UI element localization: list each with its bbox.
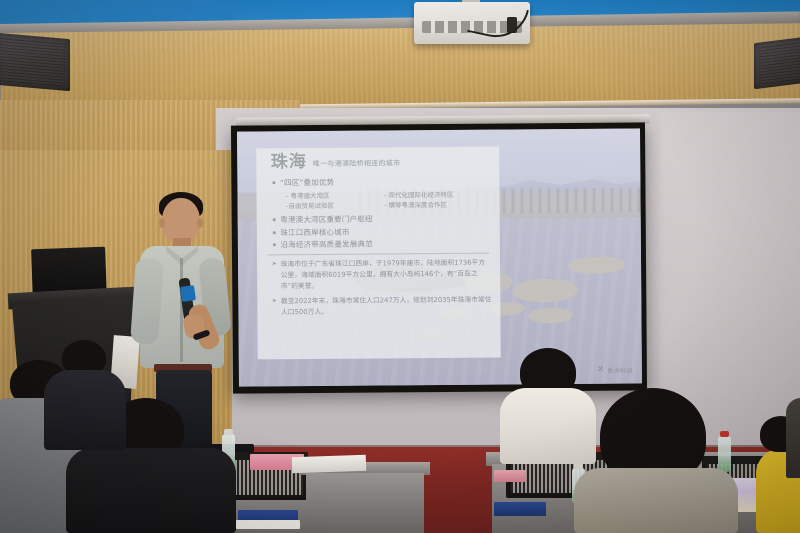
- projection-screen-frame: 珠海 唯一与港澳陆桥相连的城市 “四区”叠加优势 - 粤港澳大湾区 - 现代化国…: [231, 122, 647, 393]
- arrow-marker-icon: ➤: [272, 296, 277, 318]
- microphone-logo-band: [180, 285, 196, 302]
- torso: [66, 448, 236, 533]
- presenter-ear-right: [197, 218, 203, 228]
- logo-label: 香洲科创: [607, 365, 633, 374]
- bottle-cap: [720, 431, 729, 437]
- water-bottle[interactable]: [718, 436, 731, 472]
- bullet-dot-icon: [272, 231, 275, 234]
- bottle-cap: [224, 429, 233, 435]
- paragraph-text: 珠海市位于广东省珠江口西岸，于1979年建市，陆地面积1736平方公里，海域面积…: [281, 258, 492, 293]
- slide-divider: [267, 253, 489, 256]
- notebook-pages: [236, 520, 300, 529]
- slide-logo: ✕ 香洲科创: [597, 365, 633, 374]
- slide-title: 珠海: [271, 154, 307, 171]
- wood-valance-band: [0, 23, 800, 111]
- sub-item: -自由贸易试验区: [286, 201, 378, 212]
- pink-booklet[interactable]: [494, 470, 526, 482]
- torso: [44, 370, 126, 450]
- slide-text-card: 珠海 唯一与港澳陆桥相连的城市 “四区”叠加优势 - 粤港澳大湾区 - 现代化国…: [256, 146, 501, 360]
- x-mark-icon: ✕: [597, 366, 605, 375]
- bullet-sub-grid: - 粤港澳大湾区 - 现代化国际化经济特区 -自由贸易试验区 - 横琴粤澳深度合…: [272, 188, 491, 215]
- table-skirt: [306, 473, 424, 533]
- slide-paragraph: ➤ 截至2022年末，珠海市常住人口247万人，规划到2035年珠海市常住人口5…: [266, 295, 492, 319]
- bullet-dot-icon: [272, 243, 275, 246]
- papers-stack[interactable]: [292, 455, 367, 474]
- sub-item: - 横琴粤澳深度合作区: [384, 200, 491, 211]
- bullet-item: 沿海经济带高质量发展典范: [272, 238, 491, 251]
- projected-slide: 珠海 唯一与港澳陆桥相连的城市 “四区”叠加优势 - 粤港澳大湾区 - 现代化国…: [237, 128, 642, 386]
- torso: [786, 398, 800, 478]
- notebook[interactable]: [494, 502, 546, 516]
- slide-subtitle: 唯一与港澳陆桥相连的城市: [313, 158, 401, 171]
- slide-paragraph: ➤ 珠海市位于广东省珠江口西岸，于1979年建市，陆地面积1736平方公里，海域…: [266, 258, 492, 293]
- bullet-label: 粤港澳大湾区重要门户枢纽: [280, 214, 372, 226]
- bullet-item: 珠江口西岸核心城市: [272, 225, 491, 238]
- presenter-arm-left: [130, 257, 164, 345]
- wall-speaker-left: [0, 33, 70, 91]
- presenter-ear-left: [159, 218, 165, 228]
- torso: [574, 468, 738, 533]
- bullet-dot-icon: [272, 218, 275, 221]
- bullet-item: “四区”叠加优势: [272, 175, 491, 188]
- slide-bullet-list: “四区”叠加优势 - 粤港澳大湾区 - 现代化国际化经济特区 -自由贸易试验区 …: [265, 175, 491, 250]
- torso: [500, 388, 596, 464]
- wall-speaker-right: [754, 37, 800, 89]
- paragraph-text: 截至2022年末，珠海市常住人口247万人，规划到2035年珠海市常住人口500…: [281, 295, 492, 319]
- bullet-label: 沿海经济带高质量发展典范: [280, 239, 372, 251]
- bullet-dot-icon: [272, 181, 275, 184]
- slide-title-row: 珠海 唯一与港澳陆桥相连的城市: [265, 151, 491, 171]
- arrow-marker-icon: ➤: [272, 259, 277, 292]
- conference-room-photo: 珠海 唯一与港澳陆桥相连的城市 “四区”叠加优势 - 粤港澳大湾区 - 现代化国…: [0, 0, 800, 533]
- bullet-label: 珠江口西岸核心城市: [280, 226, 349, 238]
- bullet-item: 粤港澳大湾区重要门户枢纽: [272, 213, 491, 226]
- bullet-label: “四区”叠加优势: [280, 176, 334, 187]
